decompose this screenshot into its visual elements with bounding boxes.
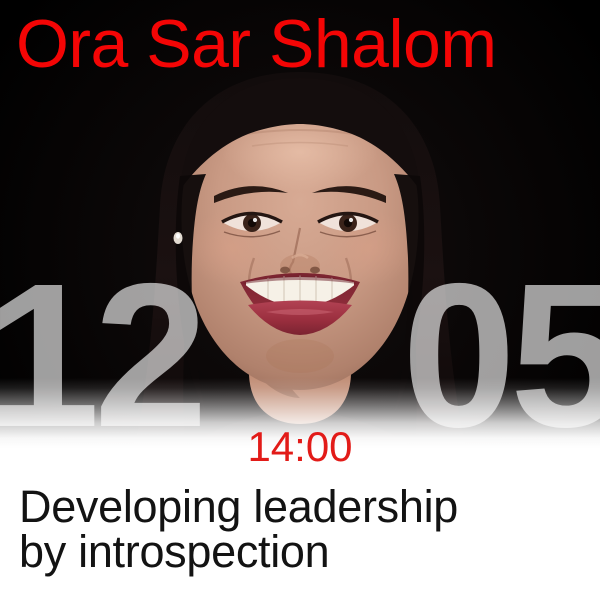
talk-title-line-1: Developing leadership [19, 484, 585, 529]
speaker-name: Ora Sar Shalom [16, 10, 596, 78]
talk-title: Developing leadership by introspection [19, 484, 585, 574]
speaker-announcement-poster: Ora Sar Shalom 12 05 14:00 Developing le… [0, 0, 600, 600]
start-time: 14:00 [0, 424, 600, 470]
talk-title-line-2: by introspection [19, 529, 585, 574]
